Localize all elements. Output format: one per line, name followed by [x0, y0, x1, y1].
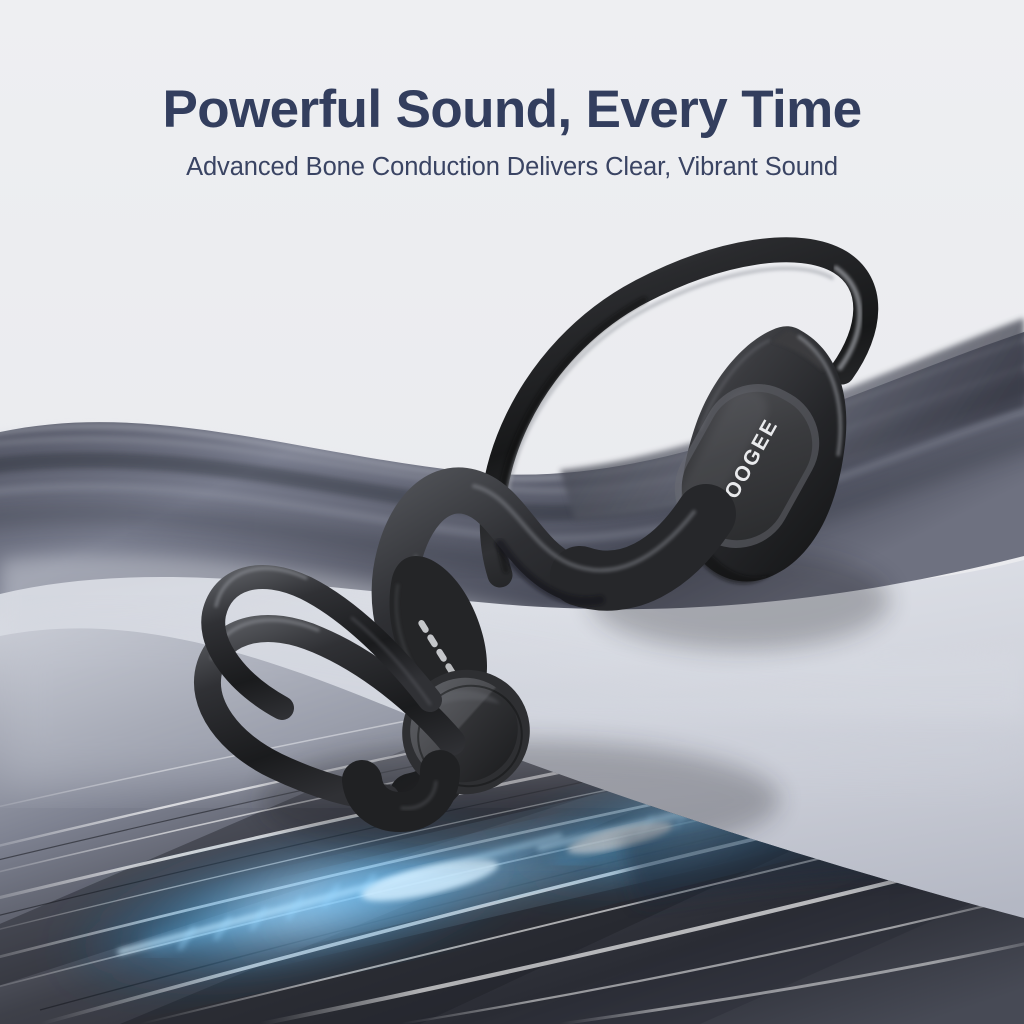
- marketing-banner: Powerful Sound, Every Time Advanced Bone…: [0, 0, 1024, 1024]
- page-title: Powerful Sound, Every Time: [0, 82, 1024, 138]
- headline-block: Powerful Sound, Every Time Advanced Bone…: [0, 82, 1024, 183]
- page-subtitle: Advanced Bone Conduction Delivers Clear,…: [0, 152, 1024, 183]
